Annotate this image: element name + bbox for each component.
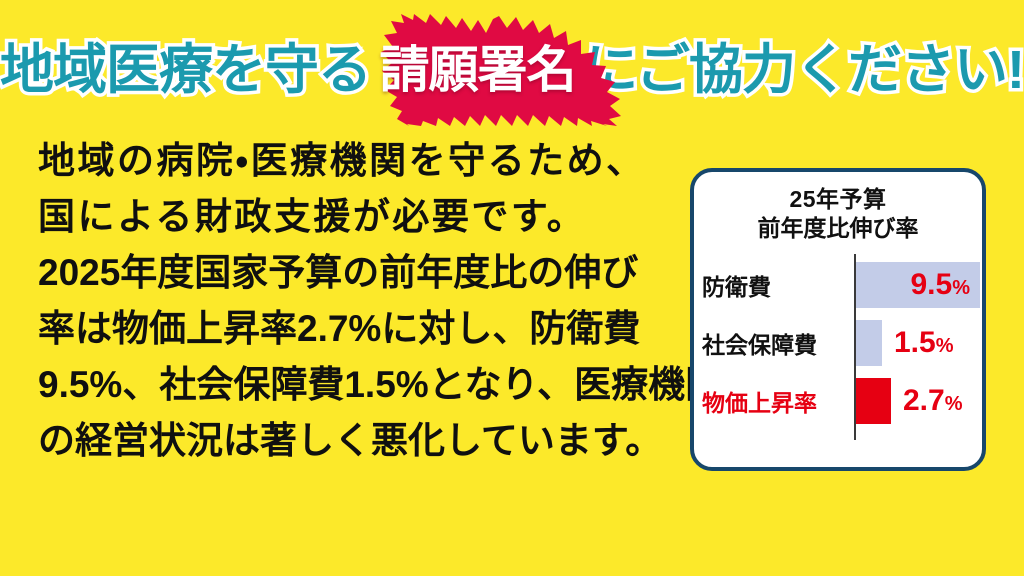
chart-row-defense: 防衛費 9.5% [694, 256, 982, 314]
body-line-6: の経営状況は著しく悪化しています。 [38, 413, 688, 469]
headline-tail-text: にご協力ください! [584, 43, 1024, 97]
body-copy: 地域の病院・医療機関を守るため、 国による財政支援が必要です。 2025年度国家… [38, 133, 688, 469]
headline-lead-text: 地域医療を守る [0, 43, 371, 97]
body-line-1: 地域の病院・医療機関を守るため、 [38, 133, 688, 189]
chart-bar-defense: 9.5% [856, 262, 980, 308]
chart-plot-area: 防衛費 9.5% 社会保障費 1.5% 物価上昇率 [694, 252, 982, 447]
chart-title-line-1: 25年予算 [694, 185, 982, 214]
chart-zero-axis [854, 254, 856, 440]
chart-row-inflation-track: 2.7% [856, 372, 963, 430]
starburst-badge: 請願署名 [373, 14, 582, 126]
body-line-2: 国による財政支援が必要です。 [38, 189, 688, 245]
chart-bar-inflation [856, 378, 891, 424]
chart-row-inflation: 物価上昇率 2.7% [694, 372, 982, 430]
starburst-label: 請願署名 [380, 45, 576, 95]
chart-row-inflation-label: 物価上昇率 [702, 384, 850, 418]
chart-title: 25年予算 前年度比伸び率 [694, 185, 982, 243]
headline: 地域医療を守る 請願署名 にご協力ください! [0, 24, 1024, 116]
chart-row-social-security: 社会保障費 1.5% [694, 314, 982, 372]
body-line-4: 率は物価上昇率2.7%に対し、防衛費 [38, 301, 688, 357]
body-line-3: 2025年度国家予算の前年度比の伸び [38, 245, 688, 301]
chart-value-inflation: 2.7% [903, 386, 963, 416]
chart-row-defense-track: 9.5% [856, 256, 980, 314]
chart-bar-social-security [856, 320, 882, 366]
chart-row-defense-label: 防衛費 [702, 268, 850, 302]
body-line-5: 9.5%、社会保障費1.5%となり、医療機関 [38, 357, 688, 413]
chart-title-line-2: 前年度比伸び率 [694, 214, 982, 243]
chart-value-social-security: 1.5% [894, 328, 954, 358]
chart-row-social-security-label: 社会保障費 [702, 326, 850, 360]
chart-value-defense: 9.5% [910, 270, 980, 300]
budget-chart-card: 25年予算 前年度比伸び率 防衛費 9.5% 社会保障費 1.5% [690, 168, 986, 471]
chart-row-social-security-track: 1.5% [856, 314, 954, 372]
poster-canvas: 地域医療を守る 請願署名 にご協力ください! 地域の病院・医療機関を守るため、 … [0, 0, 1024, 576]
